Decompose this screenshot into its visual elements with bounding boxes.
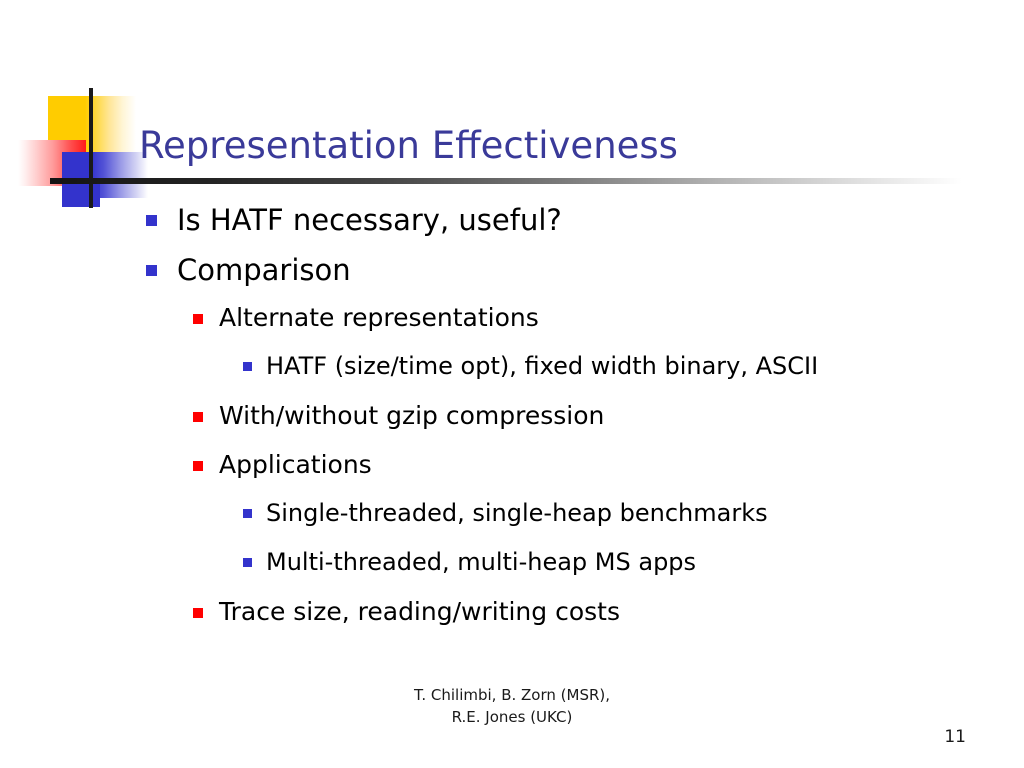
list-item-label: With/without gzip compression (219, 398, 604, 434)
list-item: Comparison (0, 250, 1024, 300)
bullet-square-icon (193, 461, 203, 471)
list-item: Single-threaded, single-heap benchmarks (0, 496, 1024, 545)
footer-credit-line-2: R.E. Jones (UKC) (0, 706, 1024, 728)
bullet-square-icon (146, 265, 157, 276)
list-item-label: Alternate representations (219, 300, 539, 336)
bullet-square-icon (243, 362, 252, 371)
blue-band-icon (62, 152, 148, 198)
list-item-label: Trace size, reading/writing costs (219, 594, 620, 630)
bullet-square-icon (243, 509, 252, 518)
footer-credit-line-1: T. Chilimbi, B. Zorn (MSR), (0, 684, 1024, 706)
list-item-label: Single-threaded, single-heap benchmarks (266, 496, 768, 530)
bullet-square-icon (193, 412, 203, 422)
list-item-label: Comparison (177, 250, 351, 290)
list-item: Is HATF necessary, useful? (0, 200, 1024, 250)
page-number: 11 (944, 727, 966, 747)
red-square-icon (18, 140, 86, 186)
list-item: HATF (size/time opt), fixed width binary… (0, 349, 1024, 398)
list-item: Alternate representations (0, 300, 1024, 349)
bullet-square-icon (243, 558, 252, 567)
list-item-label: Multi-threaded, multi-heap MS apps (266, 545, 696, 579)
vertical-rule-icon (89, 88, 93, 208)
list-item: With/without gzip compression (0, 398, 1024, 447)
bullet-list: Is HATF necessary, useful? Comparison Al… (0, 200, 1024, 643)
bullet-square-icon (146, 215, 157, 226)
footer-credit: T. Chilimbi, B. Zorn (MSR), R.E. Jones (… (0, 684, 1024, 728)
list-item-label: Applications (219, 447, 372, 483)
list-item-label: HATF (size/time opt), fixed width binary… (266, 349, 818, 383)
list-item: Applications (0, 447, 1024, 496)
yellow-square-icon (48, 96, 136, 154)
page-title: Representation Effectiveness (139, 123, 678, 169)
bullet-square-icon (193, 608, 203, 618)
list-item-label: Is HATF necessary, useful? (177, 200, 562, 240)
list-item: Trace size, reading/writing costs (0, 594, 1024, 643)
presentation-slide: Representation Effectiveness Is HATF nec… (0, 0, 1024, 768)
bullet-square-icon (193, 314, 203, 324)
list-item: Multi-threaded, multi-heap MS apps (0, 545, 1024, 594)
slide-header-decoration (0, 0, 1024, 215)
horizontal-rule-divider (50, 178, 962, 184)
